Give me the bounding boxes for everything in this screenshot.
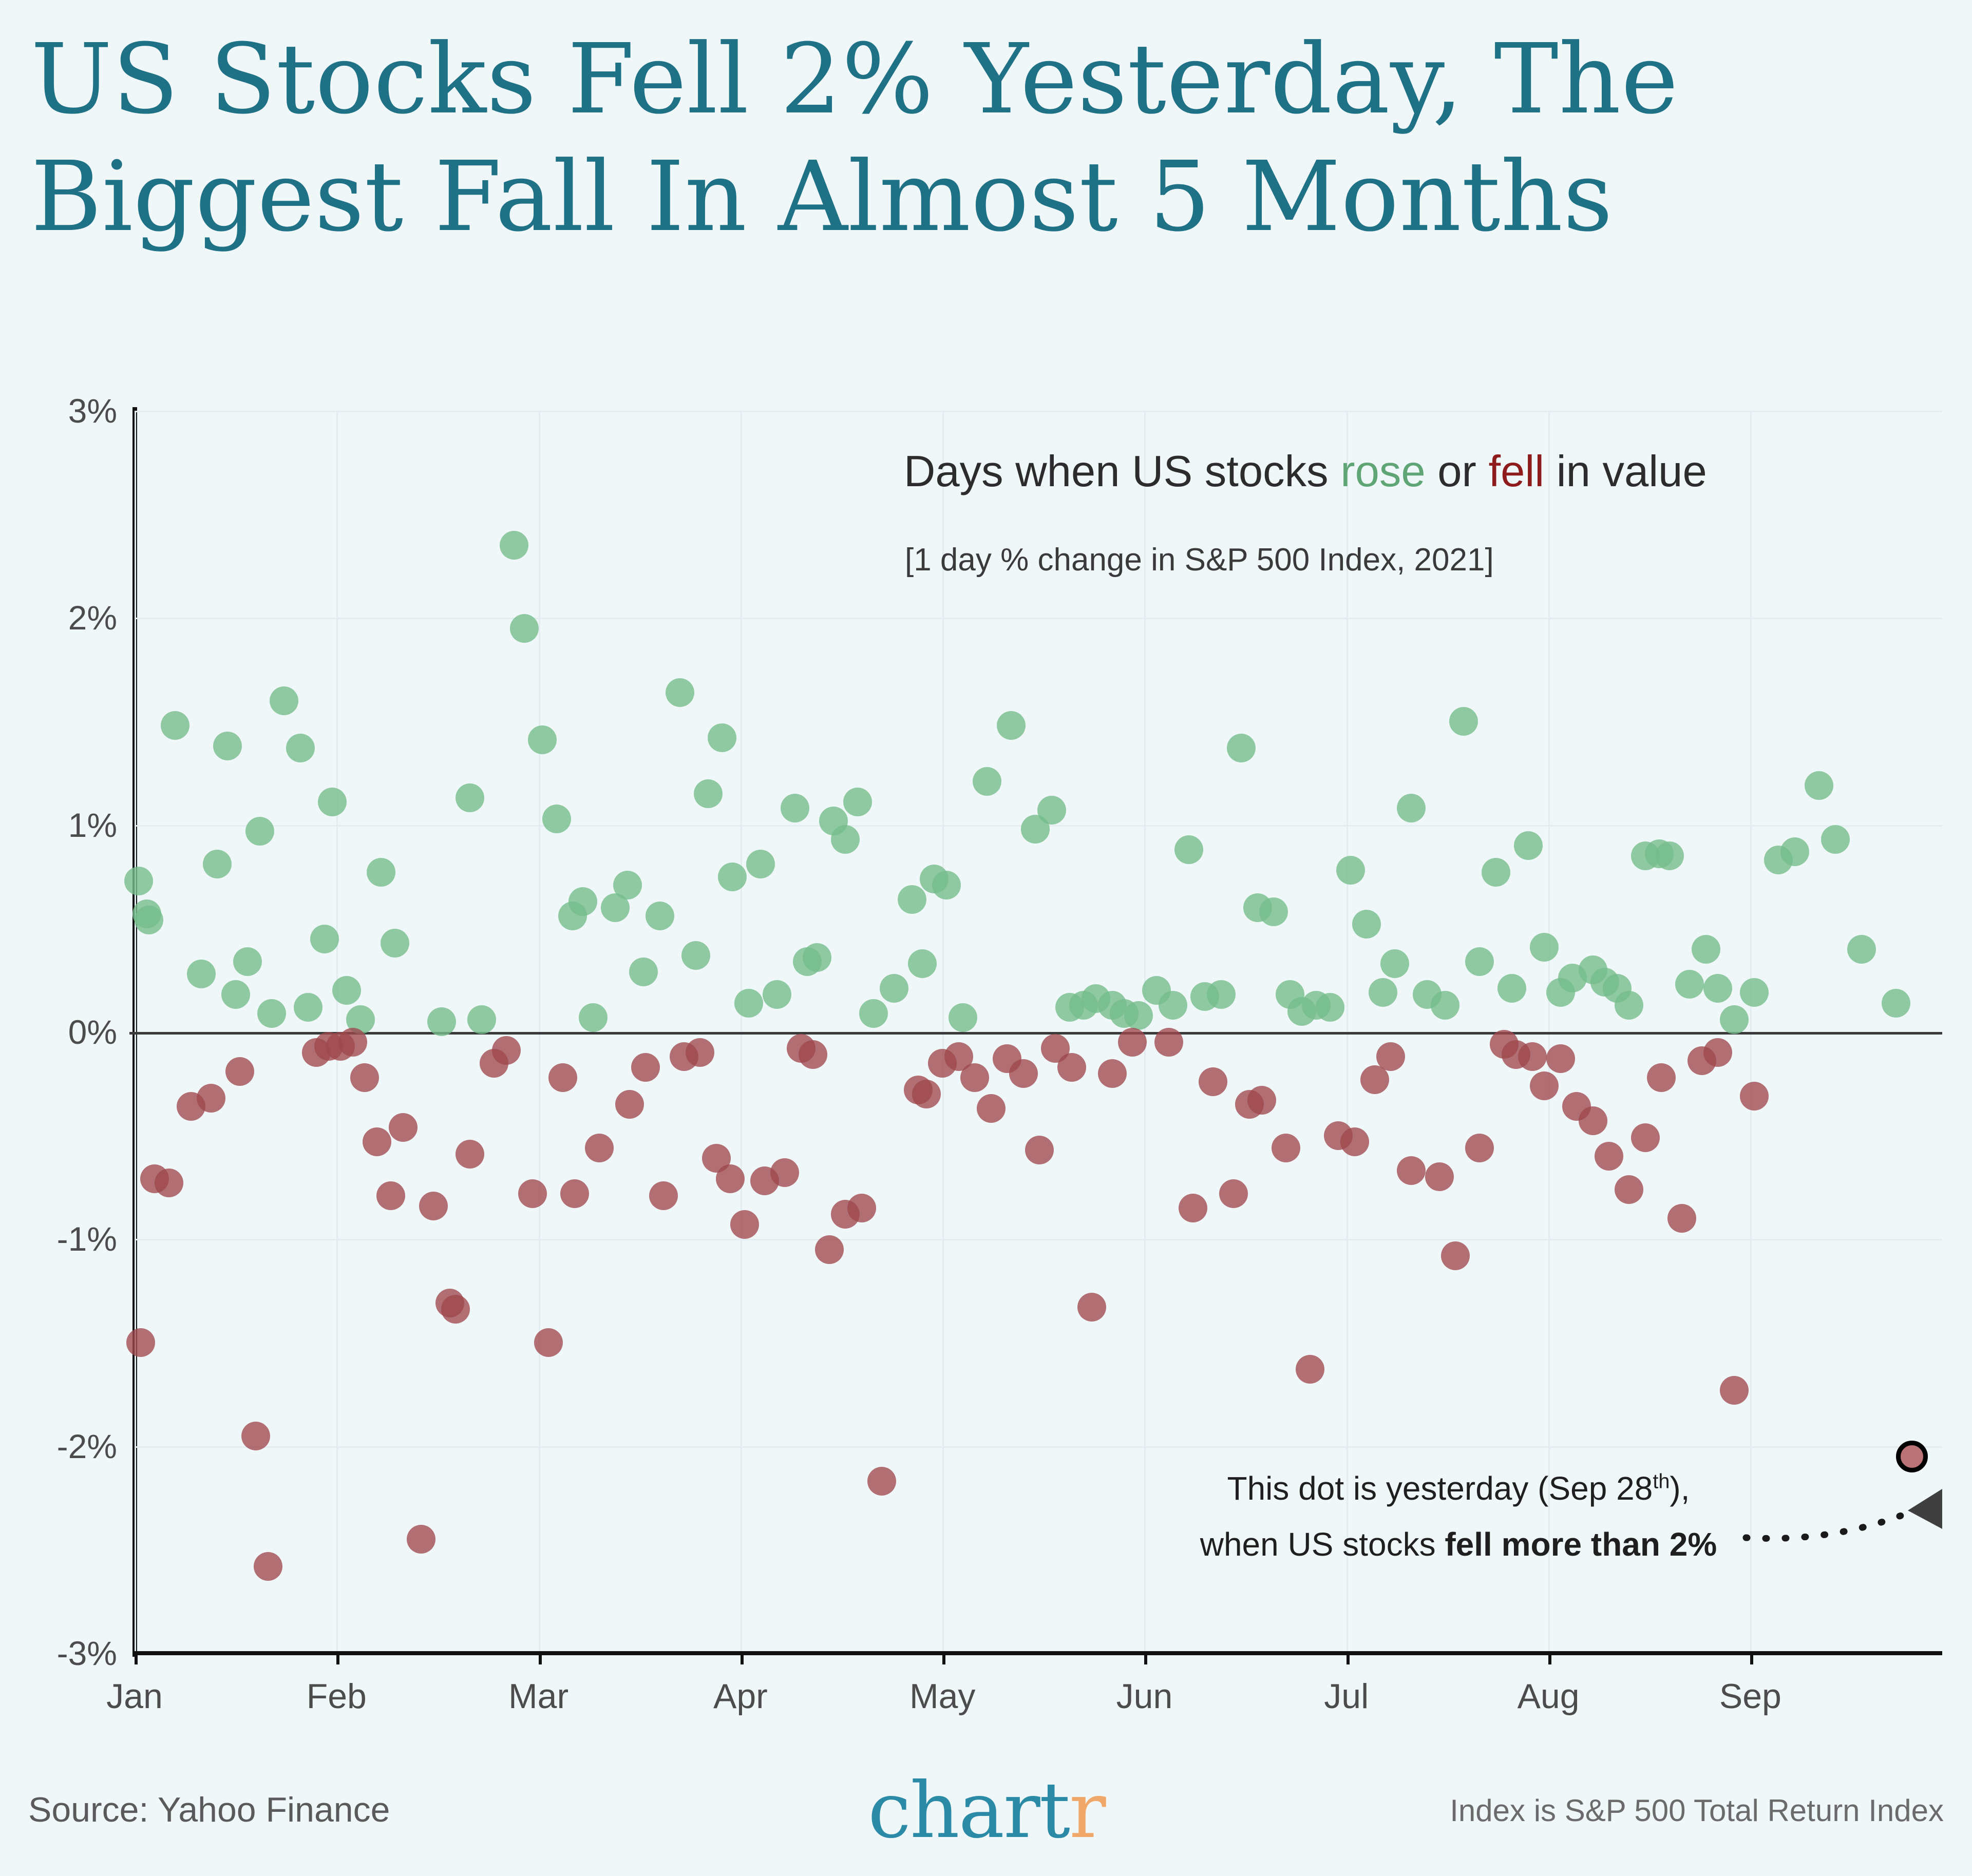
- data-point-rose: [381, 929, 409, 958]
- legend-middle: or: [1426, 447, 1489, 496]
- data-point-rose: [1530, 933, 1559, 962]
- data-point-fell: [1441, 1241, 1470, 1270]
- data-point-rose: [997, 711, 1026, 740]
- data-point-rose: [257, 999, 286, 1028]
- data-point-rose: [1449, 707, 1478, 736]
- y-axis-label: -2%: [20, 1427, 117, 1466]
- data-point-fell: [815, 1235, 844, 1264]
- data-point-fell: [1179, 1194, 1207, 1222]
- data-point-rose: [646, 902, 674, 930]
- legend-subtitle: [1 day % change in S&P 500 Index, 2021]: [905, 542, 1494, 578]
- data-point-rose: [1740, 978, 1769, 1007]
- x-axis-label: Mar: [508, 1676, 568, 1716]
- data-point-rose: [1497, 974, 1526, 1003]
- page-title: US Stocks Fell 2% Yesterday, The Biggest…: [31, 21, 1941, 256]
- data-point-rose: [949, 1003, 977, 1032]
- data-point-rose: [898, 885, 926, 914]
- data-point-fell: [1667, 1204, 1696, 1233]
- yesterday-annotation: This dot is yesterday (Sep 28th), when U…: [1130, 1461, 1787, 1573]
- data-point-rose: [233, 947, 262, 976]
- data-point-fell: [338, 1028, 367, 1057]
- data-point-fell: [1247, 1086, 1276, 1115]
- data-point-fell: [631, 1053, 660, 1082]
- data-point-rose: [1482, 858, 1510, 887]
- data-point-fell: [1272, 1134, 1300, 1162]
- x-axis-label: Apr: [713, 1676, 768, 1716]
- data-point-fell: [560, 1179, 589, 1208]
- data-point-fell: [376, 1181, 405, 1210]
- data-point-rose: [467, 1005, 496, 1034]
- data-point-fell: [1376, 1042, 1405, 1071]
- zero-baseline: [129, 1032, 1942, 1035]
- y-gridline: [135, 411, 1942, 412]
- annotation-line-2: when US stocks fell more than 2%: [1130, 1517, 1787, 1573]
- data-point-rose: [1847, 935, 1876, 964]
- data-point-fell: [649, 1181, 678, 1210]
- data-point-rose: [528, 725, 557, 754]
- data-point-fell: [847, 1194, 876, 1222]
- data-point-rose: [1882, 989, 1910, 1018]
- data-point-rose: [859, 999, 888, 1028]
- data-point-rose: [579, 1003, 608, 1032]
- data-point-rose: [1805, 771, 1833, 800]
- legend-fell-word: fell: [1488, 447, 1544, 496]
- data-point-fell: [1199, 1067, 1227, 1096]
- data-point-rose: [1174, 835, 1203, 864]
- data-point-fell: [1720, 1376, 1749, 1405]
- x-axis-tick: [135, 1651, 138, 1664]
- y-axis-label: -1%: [20, 1219, 117, 1258]
- data-point-rose: [763, 980, 791, 1009]
- y-gridline: [135, 1446, 1942, 1448]
- data-point-rose: [831, 825, 860, 854]
- chartr-logo: chartr: [868, 1766, 1105, 1855]
- data-point-rose: [932, 871, 961, 899]
- data-point-rose: [1431, 991, 1459, 1020]
- data-point-rose: [124, 867, 153, 895]
- data-point-rose: [1720, 1005, 1749, 1034]
- data-point-fell: [389, 1113, 418, 1142]
- data-point-fell: [363, 1127, 391, 1156]
- data-point-fell: [1703, 1038, 1732, 1067]
- data-point-fell: [548, 1063, 577, 1092]
- y-axis-label: 1%: [20, 806, 117, 845]
- data-point-fell: [254, 1552, 282, 1581]
- data-point-fell: [686, 1038, 714, 1067]
- data-point-fell: [1296, 1355, 1324, 1384]
- data-point-fell: [1077, 1293, 1106, 1322]
- data-point-rose: [1397, 794, 1426, 822]
- annotation-line2-bold: fell more than 2%: [1445, 1526, 1717, 1563]
- data-point-rose: [1369, 978, 1397, 1007]
- data-point-rose: [1655, 841, 1684, 870]
- data-point-rose: [510, 614, 539, 643]
- data-point-rose: [781, 794, 809, 822]
- index-note: Index is S&P 500 Total Return Index: [1450, 1793, 1944, 1828]
- data-point-fell: [1595, 1142, 1623, 1171]
- data-point-fell: [1530, 1071, 1559, 1100]
- data-point-rose: [1352, 910, 1381, 939]
- x-axis-label: Aug: [1518, 1676, 1580, 1716]
- data-point-rose: [542, 805, 571, 833]
- data-point-fell: [456, 1140, 484, 1169]
- legend-suffix: in value: [1544, 447, 1707, 496]
- data-point-rose: [456, 783, 484, 812]
- data-point-rose: [294, 993, 323, 1022]
- data-point-rose: [1207, 980, 1236, 1009]
- data-point-rose: [666, 678, 694, 707]
- data-point-fell: [419, 1192, 448, 1220]
- data-point-fell: [441, 1295, 470, 1324]
- data-point-fell: [615, 1090, 644, 1119]
- y-axis-label: 2%: [20, 598, 117, 637]
- data-point-rose: [803, 943, 831, 972]
- data-point-rose: [221, 980, 250, 1009]
- x-axis-tick: [1347, 1651, 1350, 1664]
- data-point-fell: [1740, 1082, 1769, 1111]
- data-point-rose: [880, 974, 908, 1003]
- data-point-rose: [286, 734, 315, 762]
- data-point-rose: [1380, 949, 1409, 978]
- data-point-rose: [1514, 831, 1543, 860]
- data-point-fell: [1009, 1059, 1038, 1088]
- legend-sentence: Days when US stocks rose or fell in valu…: [904, 447, 1707, 497]
- x-axis-label: Jan: [106, 1676, 163, 1716]
- annotation-line1-text: This dot is yesterday (Sep 28: [1227, 1470, 1653, 1507]
- data-point-rose: [1336, 856, 1365, 885]
- data-point-fell: [1631, 1123, 1660, 1152]
- data-point-fell: [1057, 1053, 1086, 1082]
- annotation-arrow-icon: [1741, 1473, 1946, 1571]
- x-axis-tick: [942, 1651, 945, 1664]
- y-gridline: [135, 618, 1942, 619]
- data-point-rose: [629, 958, 658, 986]
- data-point-fell: [225, 1057, 254, 1086]
- data-point-rose: [734, 989, 763, 1018]
- chart-page: US Stocks Fell 2% Yesterday, The Biggest…: [0, 0, 1972, 1876]
- logo-accent-letter: r: [1069, 1766, 1105, 1855]
- highlighted-data-point: [1896, 1441, 1928, 1472]
- data-point-fell: [492, 1036, 521, 1065]
- data-point-fell: [1098, 1059, 1127, 1088]
- data-point-fell: [241, 1422, 270, 1450]
- annotation-line2-text: when US stocks: [1200, 1526, 1445, 1563]
- data-point-fell: [960, 1063, 989, 1092]
- data-point-fell: [1397, 1156, 1426, 1185]
- data-point-rose: [1316, 993, 1344, 1022]
- data-point-rose: [1124, 1001, 1153, 1030]
- data-point-rose: [203, 850, 232, 878]
- data-point-rose: [681, 941, 710, 970]
- x-axis-tick: [741, 1651, 744, 1664]
- y-axis-label: 0%: [20, 1012, 117, 1051]
- data-point-rose: [427, 1007, 456, 1036]
- data-point-rose: [1821, 825, 1850, 854]
- data-point-fell: [1340, 1127, 1369, 1156]
- data-point-fell: [407, 1525, 435, 1554]
- data-point-fell: [799, 1040, 827, 1069]
- data-point-fell: [1579, 1106, 1607, 1135]
- x-axis-label: Jul: [1324, 1676, 1369, 1716]
- data-point-fell: [977, 1094, 1006, 1123]
- data-point-rose: [1703, 974, 1732, 1003]
- data-point-fell: [1465, 1134, 1494, 1162]
- data-point-rose: [568, 887, 597, 916]
- y-axis-label: -3%: [20, 1634, 117, 1673]
- data-point-fell: [770, 1158, 799, 1187]
- data-point-rose: [973, 767, 1001, 796]
- data-point-fell: [1615, 1175, 1643, 1204]
- x-axis-tick: [539, 1651, 542, 1664]
- data-point-fell: [1118, 1028, 1147, 1057]
- data-point-fell: [534, 1328, 563, 1357]
- data-point-rose: [213, 732, 242, 760]
- x-axis-tick: [336, 1651, 339, 1664]
- data-point-rose: [245, 817, 274, 846]
- data-point-fell: [1647, 1063, 1676, 1092]
- data-point-fell: [1219, 1179, 1248, 1208]
- data-point-fell: [1425, 1162, 1454, 1191]
- data-point-rose: [1465, 947, 1494, 976]
- data-point-rose: [1615, 991, 1643, 1020]
- data-point-fell: [197, 1084, 225, 1113]
- data-point-fell: [1518, 1042, 1547, 1071]
- data-point-rose: [1037, 796, 1066, 825]
- data-point-rose: [500, 531, 528, 560]
- legend-rose-word: rose: [1340, 447, 1425, 496]
- data-point-fell: [518, 1179, 547, 1208]
- x-axis-tick: [1750, 1651, 1753, 1664]
- data-point-fell: [350, 1063, 379, 1092]
- data-point-rose: [1259, 897, 1288, 926]
- data-point-fell: [155, 1169, 183, 1197]
- x-axis-label: Jun: [1116, 1676, 1173, 1716]
- data-point-fell: [867, 1467, 896, 1496]
- data-point-rose: [1227, 734, 1256, 762]
- source-note: Source: Yahoo Finance: [28, 1790, 390, 1830]
- data-point-rose: [270, 686, 298, 715]
- data-point-fell: [1546, 1044, 1575, 1073]
- data-point-fell: [1025, 1136, 1054, 1164]
- data-point-rose: [135, 906, 163, 934]
- x-axis-label: Feb: [307, 1676, 367, 1716]
- data-point-rose: [613, 871, 642, 899]
- data-point-rose: [332, 976, 361, 1005]
- annotation-line-1: This dot is yesterday (Sep 28th),: [1130, 1461, 1787, 1517]
- data-point-rose: [1780, 837, 1809, 866]
- data-point-rose: [187, 960, 216, 988]
- data-point-rose: [708, 723, 736, 752]
- x-axis-tick: [1548, 1651, 1551, 1664]
- annotation-line1-end: ),: [1670, 1470, 1690, 1507]
- data-point-rose: [1159, 991, 1187, 1020]
- data-point-rose: [318, 788, 347, 816]
- data-point-fell: [730, 1210, 759, 1239]
- data-point-fell: [912, 1080, 941, 1108]
- logo-main-text: chart: [868, 1766, 1069, 1855]
- y-gridline: [135, 1239, 1942, 1240]
- data-point-rose: [718, 863, 747, 891]
- data-point-fell: [716, 1164, 745, 1193]
- x-axis-label: May: [909, 1676, 975, 1716]
- data-point-fell: [126, 1328, 155, 1357]
- data-point-fell: [1154, 1028, 1183, 1057]
- x-axis-label: Sep: [1719, 1676, 1781, 1716]
- legend-prefix: Days when US stocks: [904, 447, 1340, 496]
- data-point-rose: [908, 949, 937, 978]
- data-point-rose: [161, 711, 189, 740]
- data-point-rose: [843, 788, 872, 816]
- data-point-rose: [1692, 935, 1720, 964]
- data-point-rose: [694, 779, 723, 808]
- data-point-rose: [1675, 970, 1704, 999]
- data-point-rose: [310, 925, 339, 953]
- annotation-ordinal-suffix: th: [1653, 1470, 1670, 1493]
- data-point-rose: [746, 850, 775, 878]
- data-point-fell: [585, 1134, 614, 1162]
- y-axis-label: 3%: [20, 391, 117, 430]
- x-axis-tick: [1144, 1651, 1147, 1664]
- data-point-rose: [367, 858, 395, 887]
